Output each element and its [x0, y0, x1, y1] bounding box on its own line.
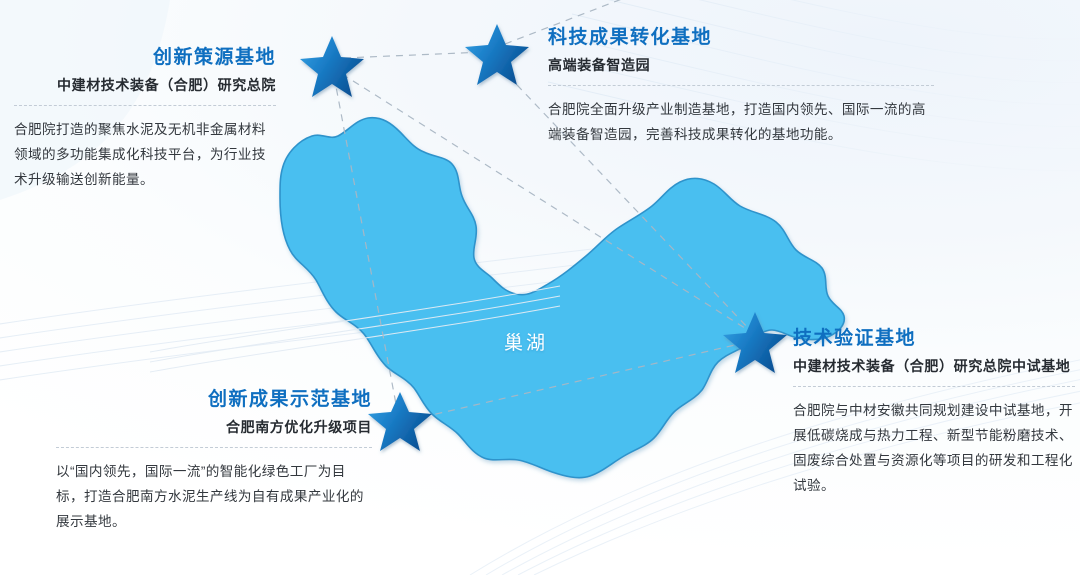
- callout-divider: [56, 447, 372, 448]
- callout-body: 合肥院打造的聚焦水泥及无机非金属材料领域的多功能集成化科技平台，为行业技术升级输…: [14, 117, 276, 192]
- callout-demo-base: 创新成果示范基地 合肥南方优化升级项目 以“国内领先，国际一流”的智能化绿色工厂…: [8, 388, 372, 534]
- callout-body: 合肥院全面升级产业制造基地，打造国内领先、国际一流的高端装备智造园，完善科技成果…: [548, 97, 934, 147]
- callout-title: 技术验证基地: [793, 327, 1075, 351]
- callout-title: 创新策源基地: [14, 46, 276, 70]
- callout-innovation-source: 创新策源基地 中建材技术装备（合肥）研究总院 合肥院打造的聚焦水泥及无机非金属材…: [14, 46, 276, 192]
- callout-subtitle: 中建材技术装备（合肥）研究总院: [14, 75, 276, 96]
- callout-divider: [793, 386, 1075, 387]
- lake-name-label: 巢湖: [504, 328, 548, 355]
- infographic-canvas: 巢湖 创新策源基地 中建材技术装备（合肥）研究总院 合肥院打造的聚焦水泥及无机非…: [0, 0, 1080, 575]
- tech-transfer-marker[interactable]: [465, 24, 529, 85]
- callout-title: 科技成果转化基地: [548, 26, 934, 50]
- connector-innovation-to-transfer: [344, 52, 484, 58]
- callout-divider: [548, 85, 934, 86]
- callout-subtitle: 中建材技术装备（合肥）研究总院中试基地: [793, 356, 1075, 377]
- callout-tech-validation: 技术验证基地 中建材技术装备（合肥）研究总院中试基地 合肥院与中材安徽共同规划建…: [793, 327, 1075, 498]
- callout-tech-transfer: 科技成果转化基地 高端装备智造园 合肥院全面升级产业制造基地，打造国内领先、国际…: [548, 26, 934, 147]
- callout-subtitle: 高端装备智造园: [548, 55, 934, 76]
- callout-title: 创新成果示范基地: [8, 388, 372, 412]
- callout-body: 以“国内领先，国际一流”的智能化绿色工厂为目标，打造合肥南方水泥生产线为自有成果…: [56, 459, 372, 534]
- callout-subtitle: 合肥南方优化升级项目: [8, 417, 372, 438]
- innovation-source-marker[interactable]: [300, 36, 364, 97]
- callout-body: 合肥院与中材安徽共同规划建设中试基地，开展低碳烧成与热力工程、新型节能粉磨技术、…: [793, 398, 1075, 499]
- callout-divider: [14, 105, 276, 106]
